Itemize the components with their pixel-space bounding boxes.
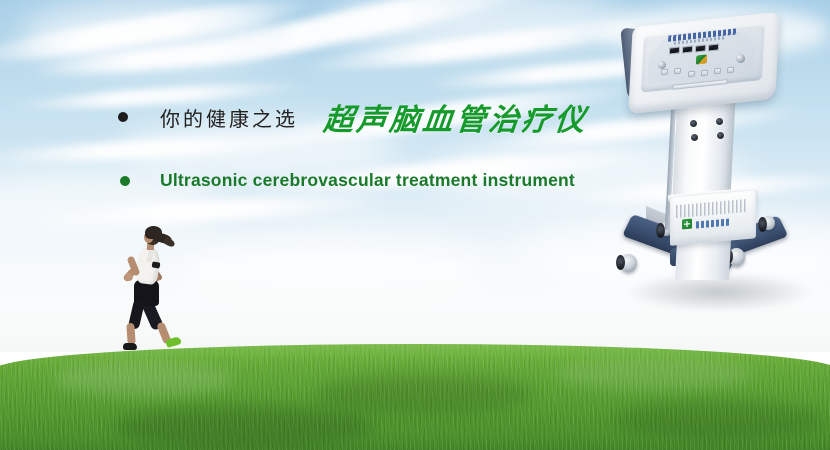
device-panel-button[interactable]	[714, 68, 721, 75]
manufacturer-logo-icon	[682, 219, 692, 230]
bullet-dot-icon	[118, 112, 128, 122]
grass-shadow	[614, 400, 824, 440]
device-led-display	[682, 45, 693, 53]
device-connector-port	[691, 134, 698, 141]
device-panel-logo-icon	[696, 54, 707, 64]
headline-title: 超声脑血管治疗仪	[322, 95, 591, 139]
ultrasonic-cerebrovascular-treatment-trolley	[612, 16, 822, 312]
grass-shadow	[114, 404, 374, 448]
runner-front-shoe	[123, 343, 137, 350]
grass-field	[0, 344, 830, 450]
runner-front-calf	[126, 323, 136, 346]
headline-lead: 你的健康之选	[160, 103, 298, 132]
runner-front-fist	[125, 273, 133, 281]
device-caster	[728, 248, 745, 266]
subheadline-text: Ultrasonic cerebrovascular treatment ins…	[160, 170, 575, 191]
device-led-display	[669, 46, 680, 54]
grass-shadow	[314, 374, 534, 414]
device-caster	[762, 216, 775, 230]
cloud-puff	[20, 0, 280, 70]
device-panel-button[interactable]	[674, 68, 681, 75]
jogging-woman	[104, 226, 190, 352]
device-panel-button[interactable]	[701, 70, 708, 77]
grass-highlight	[54, 362, 234, 396]
cloud-puff	[180, 236, 480, 304]
device-panel-button[interactable]	[727, 67, 734, 74]
device-panel-button[interactable]	[688, 71, 695, 78]
device-connector-port	[717, 132, 724, 139]
promo-banner: 你的健康之选 超声脑血管治疗仪 Ultrasonic cerebrovascul…	[0, 0, 830, 450]
grass-highlight	[554, 358, 754, 390]
device-connector-port	[690, 120, 697, 127]
cloud-puff	[330, 0, 630, 54]
runner-ponytail-tip	[163, 237, 176, 249]
device-led-display	[708, 43, 719, 51]
headline-row: 你的健康之选 超声脑血管治疗仪	[118, 95, 588, 139]
device-connector-port	[716, 118, 723, 125]
runner-armband	[152, 261, 161, 268]
device-led-display	[695, 44, 706, 52]
bullet-dot-icon	[120, 176, 130, 186]
device-panel-button[interactable]	[661, 69, 668, 76]
subheadline-row: Ultrasonic cerebrovascular treatment ins…	[120, 170, 575, 191]
device-caster	[620, 254, 637, 272]
